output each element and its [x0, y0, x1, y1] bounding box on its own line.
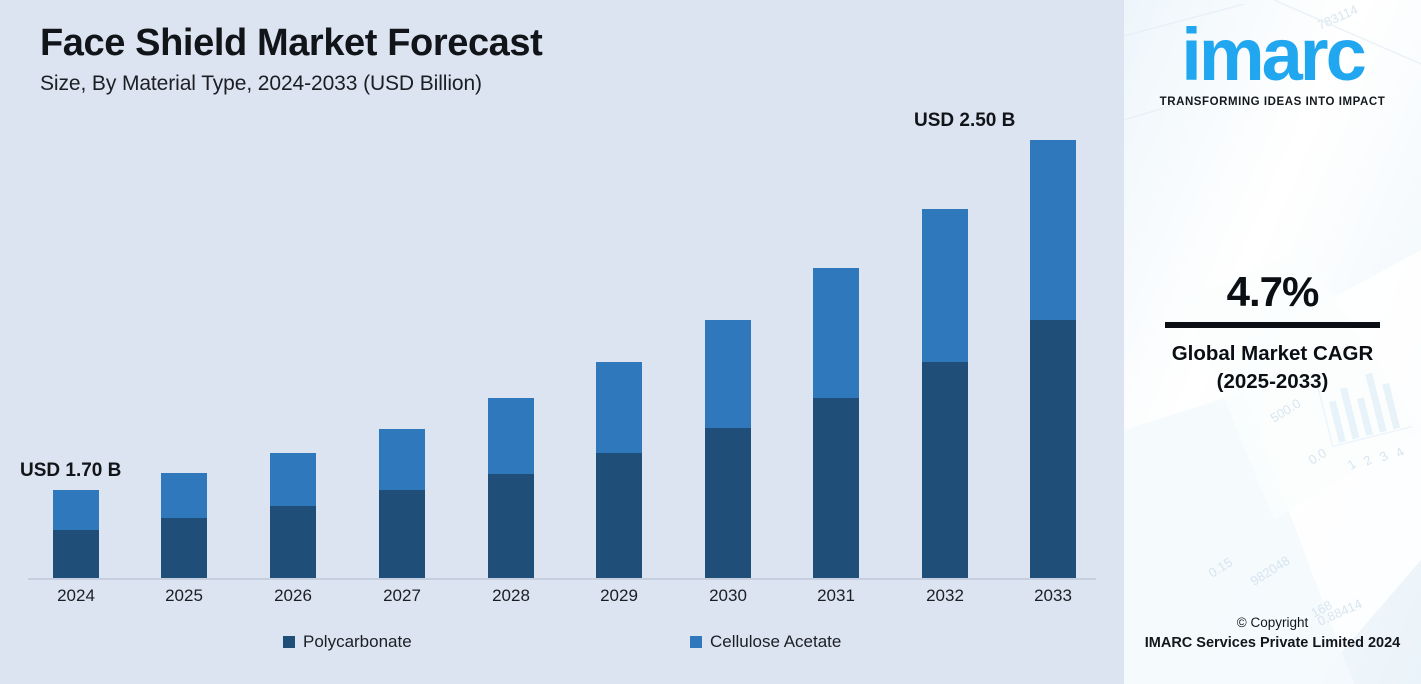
x-axis: 2024202520262027202820292030203120322033: [0, 586, 1110, 616]
cagr-label-line2: (2025-2033): [1124, 368, 1421, 396]
x-axis-label-2028: 2028: [481, 586, 541, 606]
imarc-logo: imarc TRANSFORMING IDEAS INTO IMPACT: [1124, 16, 1421, 108]
bar-value-label-2033: USD 2.50 B: [914, 110, 1015, 132]
brand-panel: 500.0 0.0 1 2 3 4 0.15 982048 168 0.8841…: [1124, 0, 1421, 684]
bar-segment-polycarbonate: [596, 453, 642, 578]
x-axis-label-2027: 2027: [372, 586, 432, 606]
bar-segment-cellulose-acetate: [922, 209, 968, 362]
bar-2028: [488, 398, 534, 578]
bar-segment-polycarbonate: [922, 362, 968, 578]
brand-content: imarc TRANSFORMING IDEAS INTO IMPACT 4.7…: [1124, 0, 1421, 684]
bar-2033: [1030, 140, 1076, 578]
bar-2026: [270, 453, 316, 578]
imarc-tagline: TRANSFORMING IDEAS INTO IMPACT: [1124, 96, 1421, 108]
bar-segment-cellulose-acetate: [270, 453, 316, 506]
bar-segment-cellulose-acetate: [813, 268, 859, 398]
legend-swatch-icon: [690, 636, 702, 648]
chart-panel: Face Shield Market Forecast Size, By Mat…: [0, 0, 1124, 684]
x-axis-label-2032: 2032: [915, 586, 975, 606]
plot-area: USD 1.70 BUSD 2.50 B: [0, 110, 1110, 580]
x-axis-label-2026: 2026: [263, 586, 323, 606]
axis-baseline: [28, 578, 1096, 580]
bar-segment-polycarbonate: [813, 398, 859, 578]
bar-segment-cellulose-acetate: [596, 362, 642, 453]
bar-segment-polycarbonate: [270, 506, 316, 578]
bar-segment-polycarbonate: [53, 530, 99, 578]
bar-2025: [161, 473, 207, 578]
bar-value-label-2024: USD 1.70 B: [20, 460, 121, 482]
legend-label: Polycarbonate: [303, 632, 412, 652]
chart-legend: PolycarbonateCellulose Acetate: [0, 632, 1110, 664]
x-axis-label-2025: 2025: [154, 586, 214, 606]
bar-2031: [813, 268, 859, 578]
bar-segment-cellulose-acetate: [1030, 140, 1076, 320]
cagr-label-line1: Global Market CAGR: [1124, 340, 1421, 368]
bar-2032: [922, 209, 968, 578]
x-axis-label-2031: 2031: [806, 586, 866, 606]
imarc-wordmark-text: imarc: [1181, 16, 1363, 94]
x-axis-label-2033: 2033: [1023, 586, 1083, 606]
bar-segment-polycarbonate: [161, 518, 207, 578]
bar-2024: [53, 490, 99, 578]
chart-title: Face Shield Market Forecast: [40, 22, 542, 65]
bar-segment-polycarbonate: [379, 490, 425, 578]
legend-label: Cellulose Acetate: [710, 632, 841, 652]
bar-2029: [596, 362, 642, 578]
x-axis-label-2030: 2030: [698, 586, 758, 606]
legend-item-cellulose-acetate[interactable]: Cellulose Acetate: [690, 632, 841, 652]
bar-segment-cellulose-acetate: [488, 398, 534, 474]
x-axis-label-2029: 2029: [589, 586, 649, 606]
legend-item-polycarbonate[interactable]: Polycarbonate: [283, 632, 412, 652]
infographic-root: Face Shield Market Forecast Size, By Mat…: [0, 0, 1421, 684]
cagr-value: 4.7%: [1124, 268, 1421, 316]
cagr-block: 4.7% Global Market CAGR (2025-2033): [1124, 268, 1421, 396]
chart-subtitle: Size, By Material Type, 2024-2033 (USD B…: [40, 72, 482, 96]
bar-segment-polycarbonate: [488, 474, 534, 578]
copyright-block: © Copyright IMARC Services Private Limit…: [1124, 613, 1421, 654]
bar-segment-cellulose-acetate: [705, 320, 751, 428]
x-axis-label-2024: 2024: [46, 586, 106, 606]
bar-segment-polycarbonate: [1030, 320, 1076, 578]
copyright-line2: IMARC Services Private Limited 2024: [1124, 633, 1421, 654]
bar-2027: [379, 429, 425, 578]
legend-swatch-icon: [283, 636, 295, 648]
cagr-divider: [1165, 322, 1380, 328]
bar-segment-cellulose-acetate: [53, 490, 99, 530]
bar-2030: [705, 320, 751, 578]
bar-segment-cellulose-acetate: [379, 429, 425, 490]
copyright-line1: © Copyright: [1124, 613, 1421, 633]
bar-segment-polycarbonate: [705, 428, 751, 578]
bar-segment-cellulose-acetate: [161, 473, 207, 518]
